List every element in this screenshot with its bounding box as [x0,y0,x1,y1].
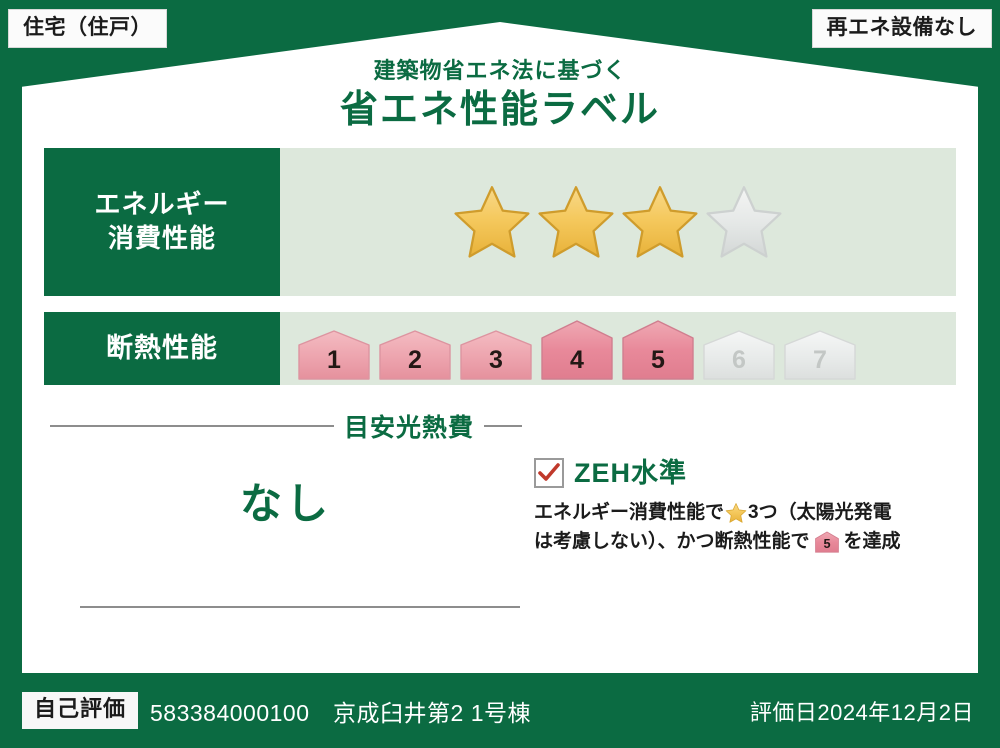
badge-renewable-energy: 再エネ設備なし [812,9,993,48]
star-rating [453,183,783,261]
divider-left [50,425,334,427]
star-icon-filled [453,183,531,261]
label-body-panel: エネルギー 消費性能 断熱性能 1234567 目安光熱費 なし [22,140,978,673]
utility-cost-header: 目安光熱費 [50,408,522,444]
zeh-desc-1b: 3つ（太陽光発電 [748,498,892,527]
zeh-checkbox[interactable] [534,458,564,488]
insulation-grade-scale: 1234567 [296,312,858,385]
house-grade-icon-inline: 5 [814,531,840,553]
insulation-grade-number: 6 [701,348,777,373]
zeh-description: エネルギー消費性能で 3つ（太陽光発電 は考慮しない）、かつ断熱性能で 5 を達… [534,498,954,557]
footer-left-group: 自己評価 583384000100 京成臼井第2 1号棟 [22,692,531,728]
insulation-grade-6: 6 [701,329,777,381]
insulation-grade-3: 3 [458,329,534,381]
footer-evaluation-date: 評価日2024年12月2日 [750,695,974,727]
zeh-desc-1a: エネルギー消費性能で [534,498,724,527]
title-block: 建築物省エネ法に基づく 省エネ性能ラベル [0,58,1000,135]
insulation-grade-number: 7 [782,348,858,373]
utility-cost-bottom-divider [80,606,520,608]
divider-right [484,425,522,427]
insulation-grade-4: 4 [539,319,615,381]
energy-performance-label: 住宅（住戸） 再エネ設備なし 建築物省エネ法に基づく 省エネ性能ラベル エネルギ… [0,0,1000,748]
utility-cost-title: 目安光熱費 [344,408,474,444]
energy-performance-row: エネルギー 消費性能 [44,148,956,296]
zeh-heading: ZEH水準 [534,458,954,488]
insulation-grade-number: 5 [620,348,696,373]
insulation-performance-row: 断熱性能 1234567 [44,312,956,385]
insulation-grade-2: 2 [377,329,453,381]
energy-performance-value [280,148,956,296]
zeh-desc-2b: を達成 [844,527,901,556]
energy-label-line1: エネルギー [94,188,229,222]
utility-cost-value: なし [50,470,522,531]
insulation-grade-1: 1 [296,329,372,381]
star-icon-empty [705,183,783,261]
badge-building-type: 住宅（住戸） [8,9,167,48]
zeh-title: ZEH水準 [574,460,687,487]
insulation-performance-value: 1234567 [280,312,956,385]
footer-id-and-name: 583384000100 京成臼井第2 1号棟 [150,694,531,728]
title-subtitle: 建築物省エネ法に基づく [0,58,1000,84]
zeh-description-line-2: は考慮しない）、かつ断熱性能で 5 を達成 [534,527,954,556]
insulation-performance-label: 断熱性能 [44,312,280,385]
zeh-block: ZEH水準 エネルギー消費性能で 3つ（太陽光発電 は考慮しない）、かつ断熱性能… [534,458,954,557]
energy-label-line2: 消費性能 [108,222,216,256]
check-icon [538,463,560,483]
star-icon-filled [621,183,699,261]
zeh-description-line-1: エネルギー消費性能で 3つ（太陽光発電 [534,498,954,527]
insulation-grade-number: 3 [458,348,534,373]
insulation-grade-number: 1 [296,348,372,373]
insulation-grade-number: 2 [377,348,453,373]
insulation-grade-7: 7 [782,329,858,381]
zeh-desc-2a: は考慮しない）、かつ断熱性能で [534,527,810,556]
label-footer: 自己評価 583384000100 京成臼井第2 1号棟 評価日2024年12月… [0,673,1000,748]
insulation-grade-5: 5 [620,319,696,381]
title-main: 省エネ性能ラベル [0,87,1000,135]
svg-text:5: 5 [823,537,830,551]
self-evaluation-badge: 自己評価 [22,692,138,728]
energy-performance-label: エネルギー 消費性能 [44,148,280,296]
star-icon-filled [537,183,615,261]
star-icon-inline [725,502,747,524]
insulation-grade-number: 4 [539,348,615,373]
